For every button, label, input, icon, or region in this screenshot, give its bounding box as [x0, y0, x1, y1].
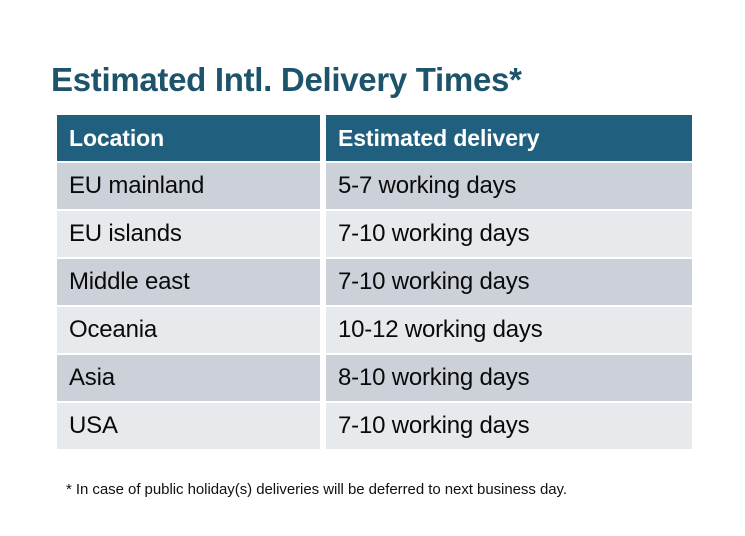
cell-delivery: 8-10 working days [326, 355, 692, 401]
delivery-times-table: Location Estimated delivery EU mainland … [51, 113, 698, 451]
column-header-delivery: Estimated delivery [326, 115, 692, 161]
cell-delivery: 5-7 working days [326, 163, 692, 209]
table-header-row: Location Estimated delivery [57, 115, 692, 161]
cell-location: EU islands [57, 211, 320, 257]
cell-delivery: 7-10 working days [326, 403, 692, 449]
cell-location: Middle east [57, 259, 320, 305]
cell-delivery: 7-10 working days [326, 259, 692, 305]
table-row: EU mainland 5-7 working days [57, 163, 692, 209]
cell-location: EU mainland [57, 163, 320, 209]
table-row: USA 7-10 working days [57, 403, 692, 449]
cell-location: Oceania [57, 307, 320, 353]
cell-location: USA [57, 403, 320, 449]
footnote-text: * In case of public holiday(s) deliverie… [66, 481, 567, 498]
table-row: Oceania 10-12 working days [57, 307, 692, 353]
column-header-location: Location [57, 115, 320, 161]
table-row: Middle east 7-10 working days [57, 259, 692, 305]
delivery-times-page: Estimated Intl. Delivery Times* Location… [0, 0, 745, 536]
table-header: Location Estimated delivery [57, 115, 692, 161]
table-row: Asia 8-10 working days [57, 355, 692, 401]
page-title: Estimated Intl. Delivery Times* [51, 60, 522, 100]
table-body: EU mainland 5-7 working days EU islands … [57, 163, 692, 449]
table-row: EU islands 7-10 working days [57, 211, 692, 257]
cell-delivery: 10-12 working days [326, 307, 692, 353]
cell-delivery: 7-10 working days [326, 211, 692, 257]
cell-location: Asia [57, 355, 320, 401]
